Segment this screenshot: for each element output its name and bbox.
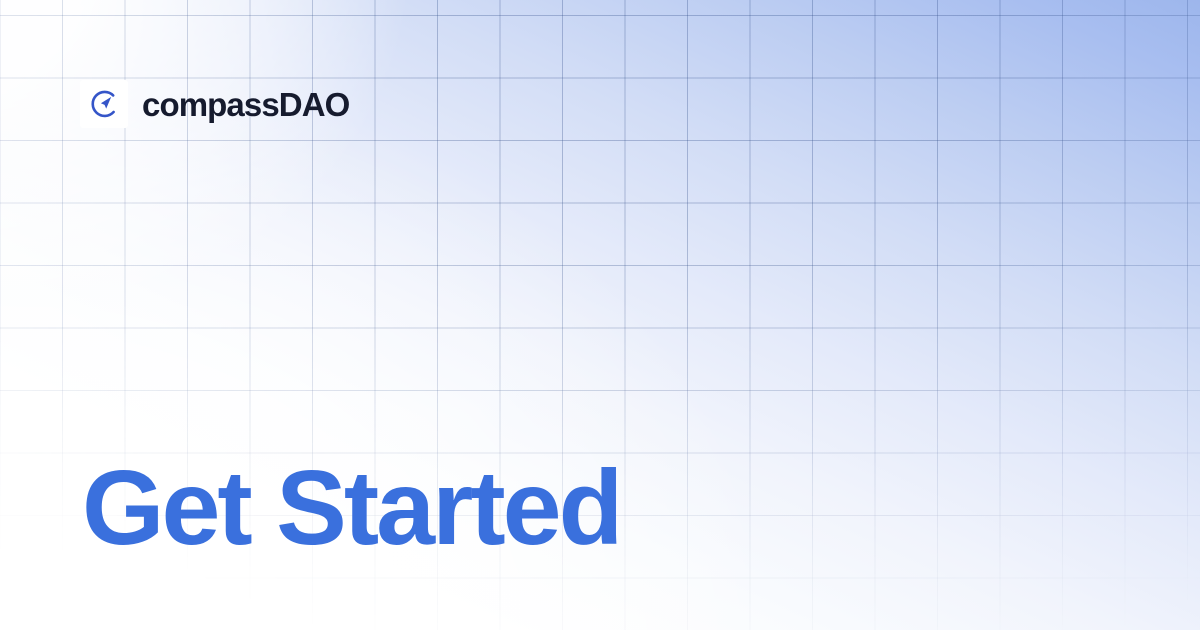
og-card: compassDAO Get Started — [0, 0, 1200, 630]
brand-name: compassDAO — [142, 88, 349, 121]
compass-icon — [80, 80, 128, 128]
brand-lockup: compassDAO — [80, 80, 349, 128]
page-title: Get Started — [82, 455, 620, 561]
